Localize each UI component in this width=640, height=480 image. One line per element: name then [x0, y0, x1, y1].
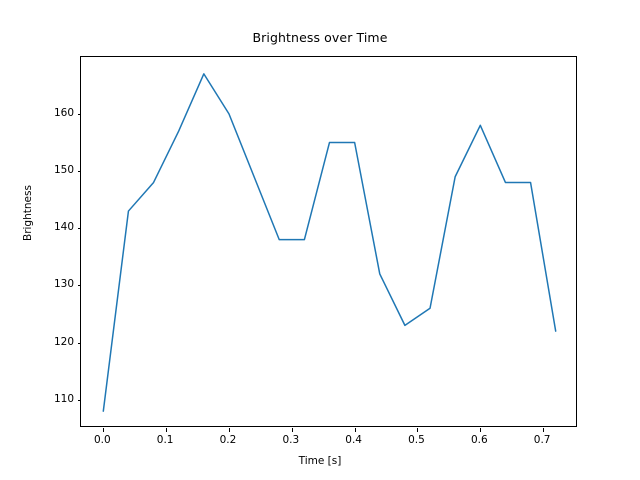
- x-tick-mark: [292, 428, 293, 432]
- line-series-svg: [81, 57, 578, 428]
- y-tick-mark: [78, 343, 82, 344]
- x-tick-label: 0.1: [157, 434, 174, 446]
- y-tick-mark: [78, 228, 82, 229]
- y-tick-mark: [78, 114, 82, 115]
- x-tick-mark: [166, 428, 167, 432]
- x-tick-mark: [480, 428, 481, 432]
- x-tick-label: 0.0: [94, 434, 111, 446]
- x-tick-label: 0.4: [345, 434, 362, 446]
- x-tick-label: 0.2: [220, 434, 237, 446]
- x-tick-mark: [355, 428, 356, 432]
- x-axis-label: Time [s]: [0, 455, 640, 467]
- y-tick-label: 130: [30, 278, 74, 290]
- plot-area: [80, 56, 577, 427]
- x-tick-label: 0.5: [408, 434, 425, 446]
- y-tick-mark: [78, 285, 82, 286]
- x-tick-mark: [103, 428, 104, 432]
- x-tick-label: 0.6: [471, 434, 488, 446]
- y-tick-label: 150: [30, 164, 74, 176]
- x-tick-label: 0.3: [282, 434, 299, 446]
- x-tick-mark: [543, 428, 544, 432]
- y-tick-mark: [78, 400, 82, 401]
- y-tick-label: 160: [30, 107, 74, 119]
- x-tick-mark: [229, 428, 230, 432]
- brightness-line: [103, 74, 555, 411]
- chart-title: Brightness over Time: [0, 30, 640, 45]
- y-tick-label: 110: [30, 393, 74, 405]
- y-tick-label: 120: [30, 336, 74, 348]
- y-tick-mark: [78, 171, 82, 172]
- y-tick-label: 140: [30, 221, 74, 233]
- x-tick-mark: [417, 428, 418, 432]
- x-tick-label: 0.7: [534, 434, 551, 446]
- chart-figure: Brightness over Time Brightness Time [s]…: [0, 0, 640, 480]
